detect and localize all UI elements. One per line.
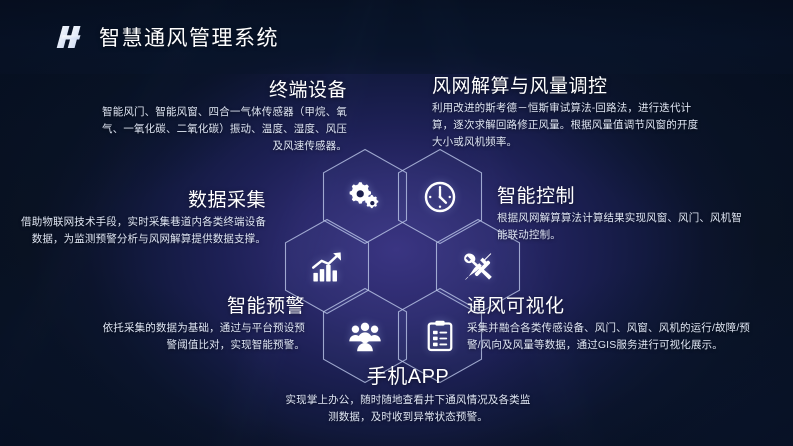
section-wind-network-solver: 风网解算与风量调控 利用改进的斯考德－恒斯审试算法-回路法，进行迭代计算，逐次求…: [432, 76, 702, 151]
stylized-h-logo-icon: [55, 24, 89, 50]
section-body: 借助物联网技术手段，实时采集巷道内各类终端设备数据，为监测预警分析与风网解算提供…: [16, 214, 266, 248]
section-body: 智能风门、智能风窗、四合一气体传感器（甲烷、氧气、一氧化碳、二氧化碳）振动、温度…: [95, 104, 347, 155]
infographic-slide: 智慧通风管理系统: [0, 0, 793, 446]
section-intelligent-warning: 智能预警 依托采集的数据为基础，通过与平台预设预警阈值比对，实现智能预警。: [100, 296, 305, 354]
section-title: 智能控制: [497, 186, 747, 208]
section-body: 利用改进的斯考德－恒斯审试算法-回路法，进行迭代计算，逐次求解回路修正风量。根据…: [432, 100, 702, 151]
section-title: 通风可视化: [467, 296, 755, 318]
section-data-collection: 数据采集 借助物联网技术手段，实时采集巷道内各类终端设备数据，为监测预警分析与风…: [16, 190, 266, 248]
section-body: 根据风网解算算法计算结果实现风窗、风门、风机智能联动控制。: [497, 210, 747, 244]
section-body: 依托采集的数据为基础，通过与平台预设预警阈值比对，实现智能预警。: [100, 320, 305, 354]
section-body: 采集并融合各类传感设备、风门、风窗、风机的运行/故障/预警/风向及风量等数据，通…: [467, 320, 755, 354]
section-title: 终端设备: [95, 80, 347, 102]
section-title: 智能预警: [100, 296, 305, 318]
page-title: 智慧通风管理系统: [99, 22, 279, 52]
section-body: 实现掌上办公，随时随地查看井下通风情况及各类监测数据，及时收到异常状态预警。: [282, 392, 534, 426]
section-mobile-app: 手机APP 实现掌上办公，随时随地查看井下通风情况及各类监测数据，及时收到异常状…: [282, 366, 534, 426]
section-title: 手机APP: [282, 366, 534, 390]
section-terminal-equipment: 终端设备 智能风门、智能风窗、四合一气体传感器（甲烷、氧气、一氧化碳、二氧化碳）…: [95, 80, 347, 155]
section-visualization: 通风可视化 采集并融合各类传感设备、风门、风窗、风机的运行/故障/预警/风向及风…: [467, 296, 755, 354]
section-intelligent-control: 智能控制 根据风网解算算法计算结果实现风窗、风门、风机智能联动控制。: [497, 186, 747, 244]
section-title: 数据采集: [16, 190, 266, 212]
section-title: 风网解算与风量调控: [432, 76, 702, 98]
page-header: 智慧通风管理系统: [0, 0, 793, 74]
